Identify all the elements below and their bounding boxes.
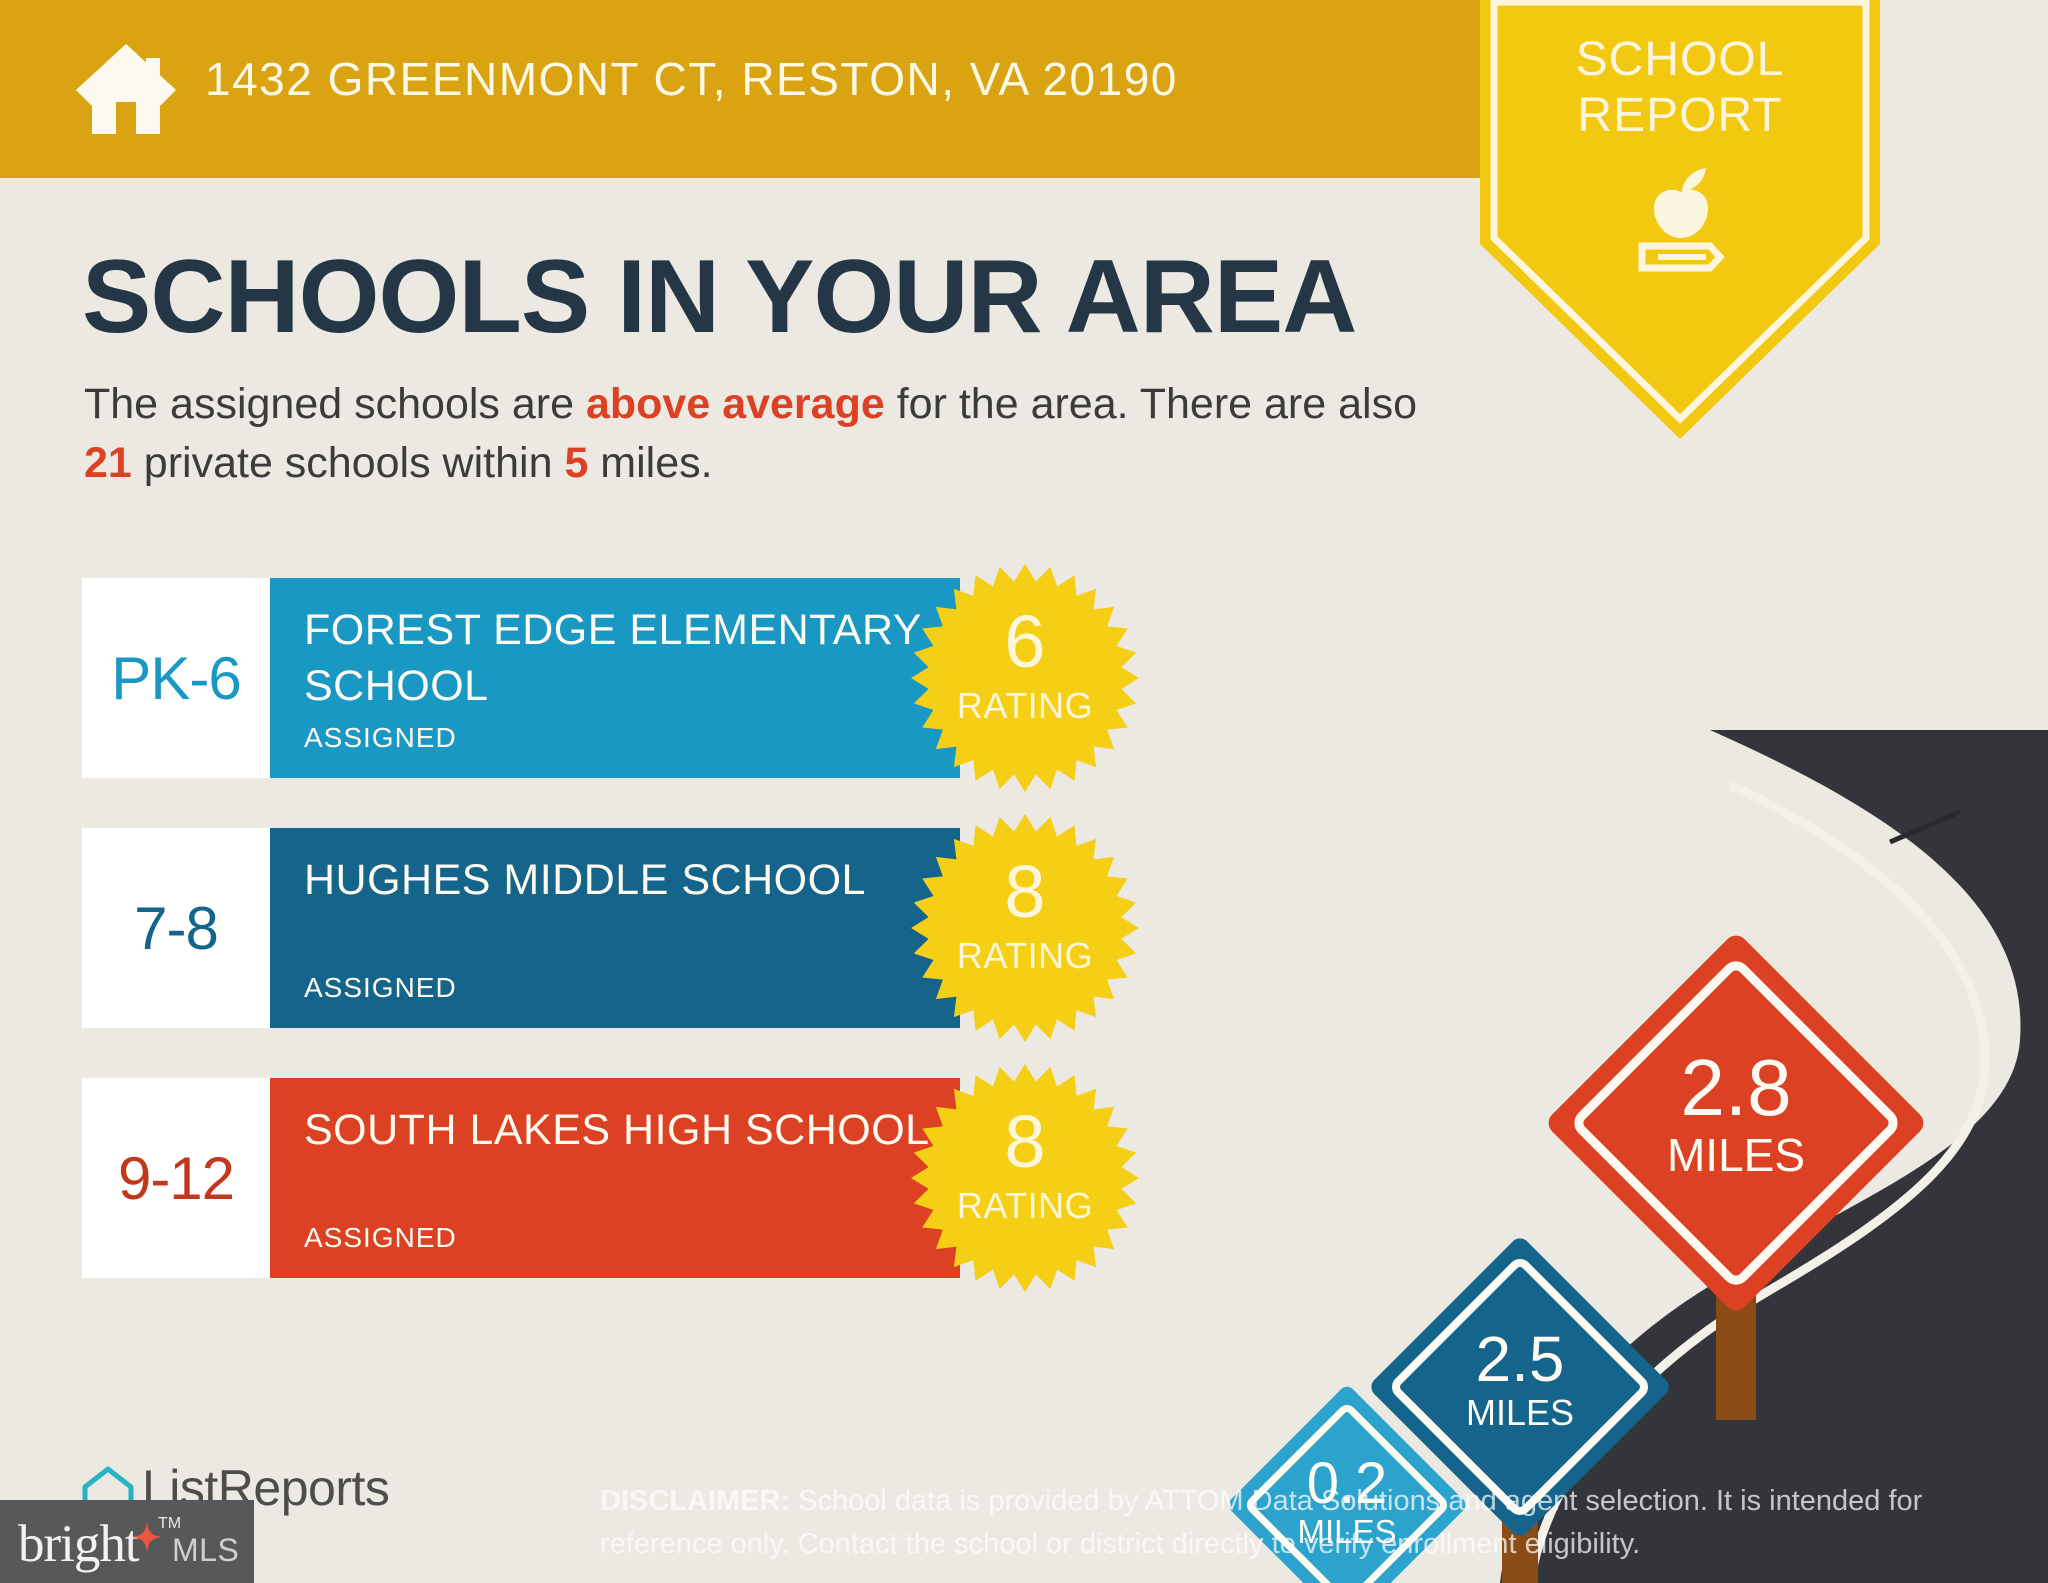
watermark-tm: TM: [158, 1515, 181, 1533]
subtitle-part1: The assigned schools are: [84, 380, 586, 428]
school-bar: FOREST EDGE ELEMENTARY SCHOOL ASSIGNED: [270, 578, 960, 778]
subtitle-highlight-radius: 5: [564, 439, 588, 487]
header-bar: 1432 GREENMONT CT, RESTON, VA 20190: [0, 0, 1480, 178]
school-name: SOUTH LAKES HIGH SCHOOL: [304, 1102, 944, 1158]
rating-label: RATING: [910, 1185, 1140, 1227]
rating-label: RATING: [910, 685, 1140, 727]
subtitle-part4: miles.: [588, 439, 712, 487]
grade-box: 7-8: [82, 828, 270, 1028]
badge-title-line2: REPORT: [1480, 88, 1880, 144]
subtitle: The assigned schools are above average f…: [84, 375, 1454, 493]
grade-range-label: PK-6: [111, 644, 240, 713]
disclaimer-body: School data is provided by ATTOM Data So…: [600, 1485, 1922, 1560]
distance-unit-1: MILES: [1466, 1392, 1574, 1433]
subtitle-part3: private schools within: [132, 439, 565, 487]
grade-range-label: 9-12: [118, 1144, 234, 1213]
rating-badge: 8 RATING: [910, 1063, 1140, 1293]
assigned-status: ASSIGNED: [304, 972, 457, 1004]
distance-value-1: 2.5: [1476, 1323, 1565, 1395]
rating-badge: 8 RATING: [910, 813, 1140, 1043]
school-name: FOREST EDGE ELEMENTARY SCHOOL: [304, 602, 944, 714]
watermark-mls: MLS: [172, 1532, 239, 1569]
rating-value: 6: [910, 605, 1140, 679]
property-address: 1432 GREENMONT CT, RESTON, VA 20190: [205, 52, 1178, 106]
badge-title-line1: SCHOOL: [1480, 32, 1880, 88]
subtitle-part2: for the area. There are also: [885, 380, 1417, 428]
grade-box: 9-12: [82, 1078, 270, 1278]
rating-badge: 6 RATING: [910, 563, 1140, 793]
grade-range-label: 7-8: [134, 894, 218, 963]
watermark-brand: bright: [18, 1514, 139, 1574]
distance-unit-2: MILES: [1667, 1129, 1805, 1181]
road-signs-illustration: 0.2 MILES 2.5 MILES 2.8 MILES: [1230, 600, 2048, 1583]
rating-label: RATING: [910, 935, 1140, 977]
assigned-status: ASSIGNED: [304, 1222, 457, 1254]
school-report-infographic: 1432 GREENMONT CT, RESTON, VA 20190 SCHO…: [0, 0, 2048, 1583]
disclaimer-text: DISCLAIMER: School data is provided by A…: [600, 1480, 1980, 1566]
school-name: HUGHES MIDDLE SCHOOL: [304, 852, 944, 908]
subtitle-highlight-count: 21: [84, 439, 132, 487]
disclaimer-label: DISCLAIMER:: [600, 1485, 790, 1517]
page-title: SCHOOLS IN YOUR AREA: [82, 238, 1356, 357]
home-icon: [72, 38, 180, 138]
assigned-status: ASSIGNED: [304, 722, 457, 754]
school-bar: SOUTH LAKES HIGH SCHOOL ASSIGNED: [270, 1078, 960, 1278]
subtitle-highlight-rating: above average: [586, 380, 885, 428]
rating-value: 8: [910, 1105, 1140, 1179]
rating-value: 8: [910, 855, 1140, 929]
grade-box: PK-6: [82, 578, 270, 778]
school-bar: HUGHES MIDDLE SCHOOL ASSIGNED: [270, 828, 960, 1028]
distance-value-2: 2.8: [1680, 1043, 1791, 1132]
school-report-badge: SCHOOL REPORT: [1480, 0, 1880, 439]
apple-on-book-icon: [1626, 162, 1736, 282]
bright-mls-watermark: bright TM MLS: [0, 1500, 254, 1583]
badge-title: SCHOOL REPORT: [1480, 32, 1880, 144]
